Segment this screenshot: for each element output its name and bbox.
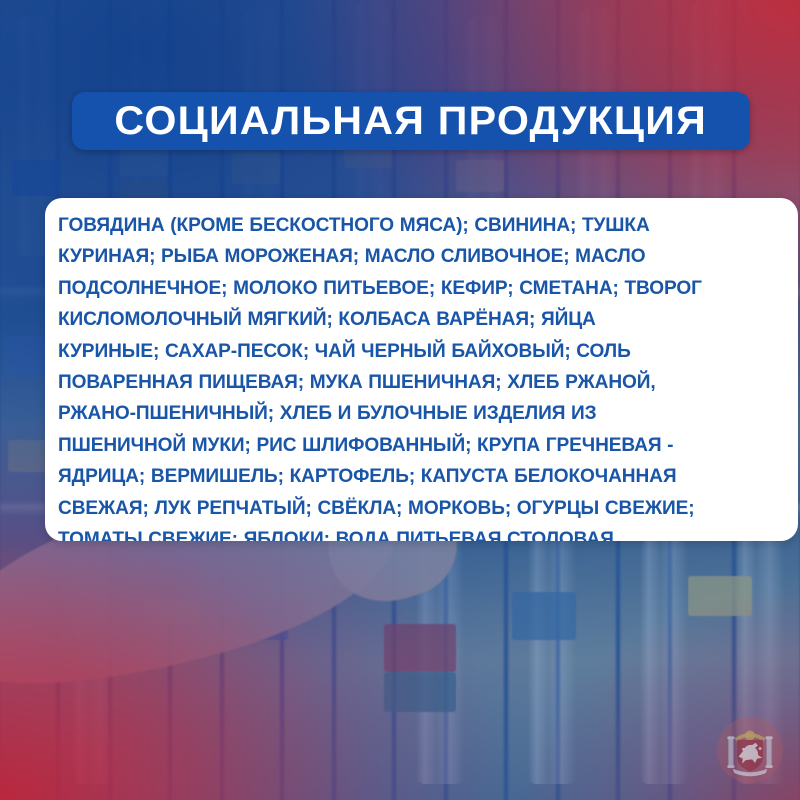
product-list-card: ГОВЯДИНА (КРОМЕ БЕСКОСТНОГО МЯСА); СВИНИ… [45, 198, 798, 541]
coat-of-arms-crimea-icon [714, 714, 786, 786]
title-banner: СОЦИАЛЬНАЯ ПРОДУКЦИЯ [72, 92, 750, 150]
product-line: СВЕЖАЯ; ЛУК РЕПЧАТЫЙ; СВЁКЛА; МОРКОВЬ; О… [58, 493, 784, 524]
product-list: ГОВЯДИНА (КРОМЕ БЕСКОСТНОГО МЯСА); СВИНИ… [58, 210, 784, 541]
product-line: КИСЛОМОЛОЧНЫЙ МЯГКИЙ; КОЛБАСА ВАРЁНАЯ; Я… [58, 304, 784, 335]
product-line: ПШЕНИЧНОЙ МУКИ; РИС ШЛИФОВАННЫЙ; КРУПА Г… [58, 430, 784, 461]
product-line: ТОМАТЫ СВЕЖИЕ; ЯБЛОКИ; ВОДА ПИТЬЕВАЯ СТО… [58, 524, 784, 541]
poster-canvas: СОЦИАЛЬНАЯ ПРОДУКЦИЯ ГОВЯДИНА (КРОМЕ БЕС… [0, 0, 800, 800]
product-line: ГОВЯДИНА (КРОМЕ БЕСКОСТНОГО МЯСА); СВИНИ… [58, 210, 784, 241]
product-line: ЯДРИЦА; ВЕРМИШЕЛЬ; КАРТОФЕЛЬ; КАПУСТА БЕ… [58, 461, 784, 492]
product-line: ПОДСОЛНЕЧНОЕ; МОЛОКО ПИТЬЕВОЕ; КЕФИР; СМ… [58, 273, 784, 304]
product-line: КУРИНАЯ; РЫБА МОРОЖЕНАЯ; МАСЛО СЛИВОЧНОЕ… [58, 241, 784, 272]
product-line: ПОВАРЕННАЯ ПИЩЕВАЯ; МУКА ПШЕНИЧНАЯ; ХЛЕБ… [58, 367, 784, 398]
product-line: РЖАНО-ПШЕНИЧНЫЙ; ХЛЕБ И БУЛОЧНЫЕ ИЗДЕЛИЯ… [58, 398, 784, 429]
product-line: КУРИНЫЕ; САХАР-ПЕСОК; ЧАЙ ЧЕРНЫЙ БАЙХОВЫ… [58, 336, 784, 367]
page-title: СОЦИАЛЬНАЯ ПРОДУКЦИЯ [115, 101, 708, 141]
